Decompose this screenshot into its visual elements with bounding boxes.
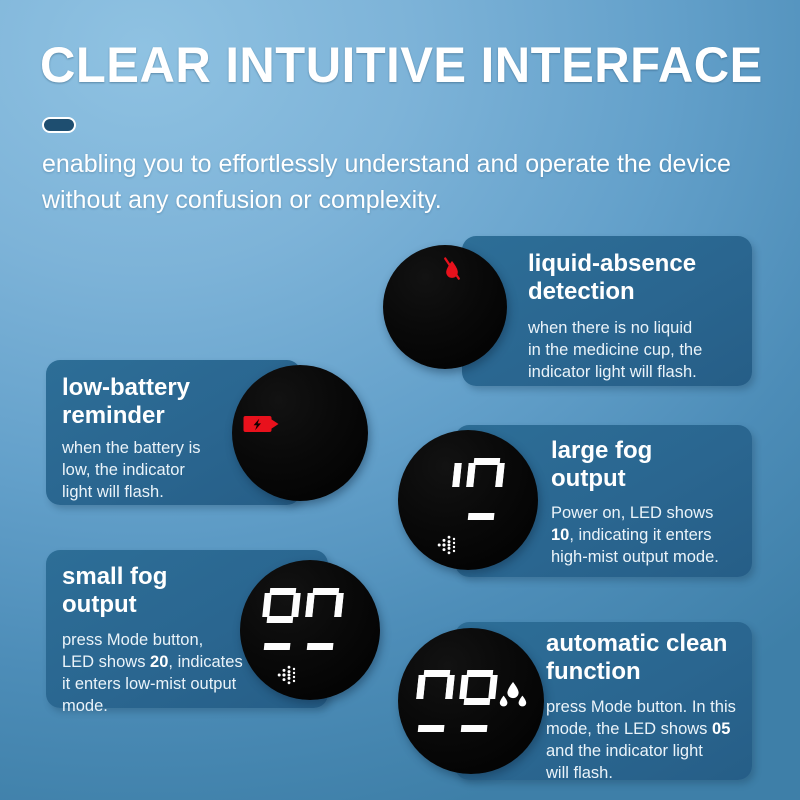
card-body-liquid-absence: when there is no liquid in the medicine … [528, 318, 743, 384]
device-disc-low-battery [232, 365, 368, 501]
led-digit [463, 458, 506, 520]
led-digit [456, 670, 499, 732]
device-disc-auto-clean [398, 628, 544, 774]
led-display-auto-clean [413, 670, 499, 732]
card-body-low-battery: when the battery is low, the indicator l… [62, 438, 242, 504]
card-title-low-battery: low-battery reminder [62, 374, 242, 429]
mist-spray-icon [276, 664, 302, 686]
led-value-inline: 10 [551, 526, 569, 544]
card-title-large-fog: large fog output [551, 437, 747, 492]
page-title: CLEAR INTUITIVE INTERFACE [40, 40, 765, 90]
device-disc-large-fog [398, 430, 538, 570]
mist-spray-icon [436, 534, 462, 556]
led-value-inline: 20 [150, 653, 168, 671]
card-body-small-fog: press Mode button, LED shows 20, indicat… [62, 630, 277, 718]
led-value-inline: 05 [712, 720, 730, 738]
led-digit [413, 670, 456, 732]
infographic-page: CLEAR INTUITIVE INTERFACE enabling you t… [0, 0, 800, 800]
device-disc-liquid-absence [383, 245, 507, 369]
droplet-slash-icon [435, 252, 469, 286]
card-title-liquid-absence: liquid-absence detection [528, 250, 743, 305]
card-body-auto-clean: press Mode button. In this mode, the LED… [546, 697, 758, 785]
led-digit [302, 588, 345, 650]
battery-bolt-icon [243, 413, 281, 435]
page-subtitle: enabling you to effortlessly understand … [42, 147, 742, 218]
led-digit [420, 458, 463, 520]
pill-dash-icon [42, 117, 76, 133]
card-body-large-fog: Power on, LED shows 10, indicating it en… [551, 503, 751, 569]
card-title-auto-clean: automatic clean function [546, 630, 751, 685]
clean-droplets-icon [498, 680, 528, 710]
led-display-large-fog [420, 458, 506, 520]
card-title-small-fog: small fog output [62, 563, 262, 618]
